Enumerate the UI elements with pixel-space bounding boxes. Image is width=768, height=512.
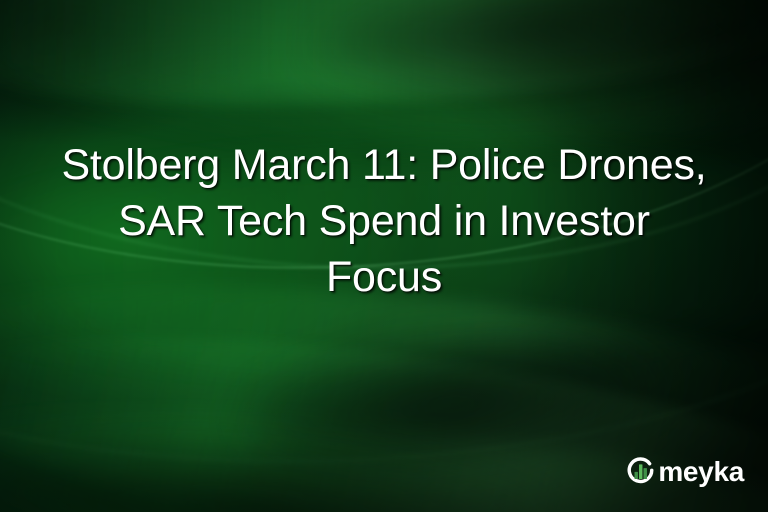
ribbon-top-2 xyxy=(0,0,768,132)
ribbon-top-1 xyxy=(0,0,768,138)
brand-logo: meyka xyxy=(624,455,744,488)
social-share-card: Stolberg March 11: Police Drones, SAR Te… xyxy=(0,0,768,512)
ribbon-low-3 xyxy=(0,377,768,512)
brand-wordmark: meyka xyxy=(658,458,744,486)
shadow-swirl-2 xyxy=(303,0,768,109)
circular-bar-chart-icon xyxy=(624,455,657,488)
shadow-swirl-3 xyxy=(0,429,556,512)
shadow-swirl-1 xyxy=(225,319,680,490)
page-title: Stolberg March 11: Police Drones, SAR Te… xyxy=(0,137,768,305)
